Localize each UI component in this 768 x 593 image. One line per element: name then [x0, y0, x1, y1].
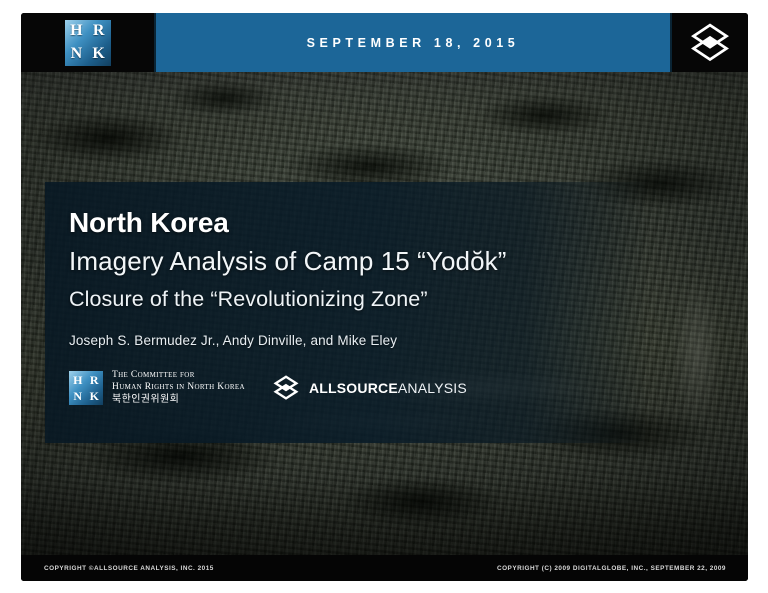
- hrnk-letter-r: R: [88, 21, 109, 42]
- hrnk-logo-lockup[interactable]: H R N K The Committee for Human Rights i…: [69, 370, 245, 405]
- hrnk-letter-n: N: [70, 389, 86, 405]
- hrnk-wordmark: The Committee for Human Rights in North …: [112, 370, 245, 405]
- hrnk-wordmark-korean: 북한인권위원회: [112, 394, 245, 406]
- header-right-logo-cell: [672, 13, 748, 72]
- hrnk-wordmark-line2: Human Rights in North Korea: [112, 382, 245, 394]
- allsource-analysis-logo-icon[interactable]: [688, 21, 732, 65]
- allsource-copyright-text: COPYRIGHT ©ALLSOURCE ANALYSIS, INC. 2015: [44, 565, 214, 572]
- hrnk-letter-k: K: [87, 389, 103, 405]
- organization-logo-row: H R N K The Committee for Human Rights i…: [69, 370, 645, 405]
- allsource-logo-lockup[interactable]: ALLSOURCEANALYSIS: [271, 373, 467, 403]
- page-title: North Korea: [69, 208, 645, 238]
- allsource-wordmark-light: ANALYSIS: [398, 380, 467, 396]
- allsource-wordmark-bold: ALLSOURCE: [309, 380, 398, 396]
- hrnk-logo-icon-small: H R N K: [69, 371, 103, 405]
- hrnk-letter-h: H: [66, 21, 87, 42]
- page-subtitle-secondary: Closure of the “Revolutionizing Zone”: [69, 287, 645, 311]
- allsource-wordmark: ALLSOURCEANALYSIS: [309, 380, 467, 396]
- digitalglobe-copyright-text: COPYRIGHT (C) 2009 DIGITALGLOBE, INC., S…: [497, 565, 726, 572]
- header-date-band: SEPTEMBER 18, 2015: [154, 13, 672, 72]
- page-subtitle: Imagery Analysis of Camp 15 “Yodŏk”: [69, 247, 645, 276]
- hrnk-letter-n: N: [66, 43, 87, 64]
- hrnk-logo-icon[interactable]: H R N K: [65, 20, 111, 66]
- hrnk-letter-h: H: [70, 372, 86, 388]
- page-root: H R N K SEPTEMBER 18, 2015: [0, 0, 768, 593]
- hrnk-letter-k: K: [88, 43, 109, 64]
- title-overlay-panel: North Korea Imagery Analysis of Camp 15 …: [45, 182, 645, 443]
- hrnk-letter-r: R: [87, 372, 103, 388]
- publication-date: SEPTEMBER 18, 2015: [307, 36, 520, 50]
- footer-copyright-right: COPYRIGHT (C) 2009 DIGITALGLOBE, INC., S…: [387, 555, 748, 581]
- allsource-analysis-logo-icon-small: [271, 373, 301, 403]
- report-cover: H R N K SEPTEMBER 18, 2015: [21, 13, 748, 581]
- footer-copyright-left: COPYRIGHT ©ALLSOURCE ANALYSIS, INC. 2015: [21, 555, 387, 581]
- authors-line: Joseph S. Bermudez Jr., Andy Dinville, a…: [69, 333, 645, 348]
- header-band: H R N K SEPTEMBER 18, 2015: [21, 13, 748, 72]
- hrnk-wordmark-line1: The Committee for: [112, 370, 245, 382]
- header-left-logo-cell: H R N K: [21, 13, 154, 72]
